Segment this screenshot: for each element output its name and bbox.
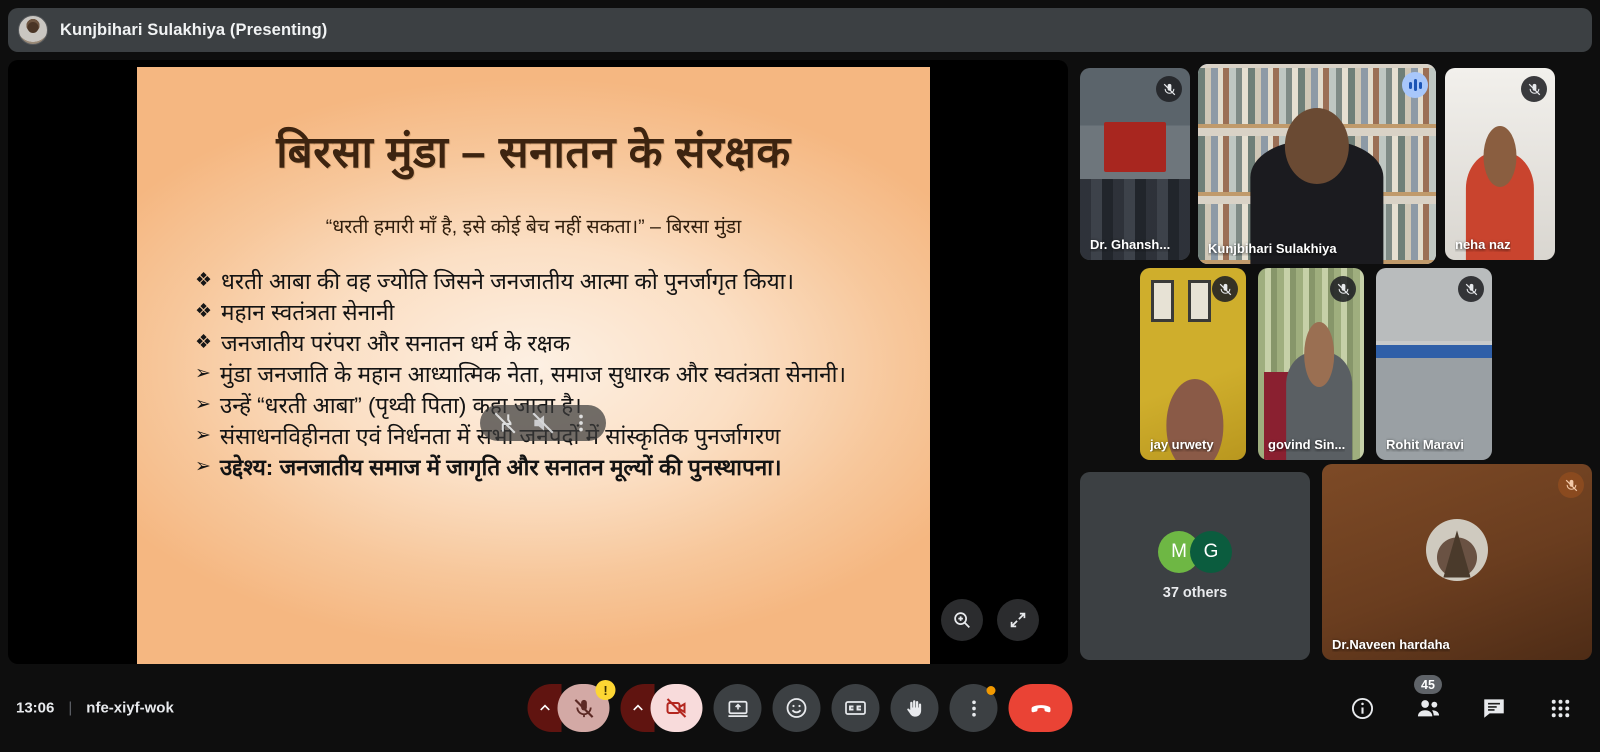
microphone-button[interactable]: !	[558, 684, 610, 732]
others-avatars: M G	[1158, 531, 1232, 573]
speaking-indicator-icon	[1402, 72, 1428, 98]
captions-button[interactable]	[832, 684, 880, 732]
mic-options-chevron[interactable]	[528, 684, 562, 732]
fullscreen-button[interactable]	[997, 599, 1039, 641]
avatar-initial: G	[1190, 531, 1232, 573]
participant-name: Kunjbihari Sulakhiya	[1208, 241, 1337, 256]
meet-window: Kunjbihari Sulakhiya (Presenting) बिरसा …	[0, 0, 1600, 752]
participant-tile[interactable]: Dr. Ghansh...	[1080, 68, 1190, 260]
presenting-banner: Kunjbihari Sulakhiya (Presenting)	[8, 8, 1592, 52]
bullet-text: धरती आबा की वह ज्योति जिसने जनजातीय आत्म…	[221, 267, 880, 297]
mic-off-icon	[1558, 472, 1584, 498]
raise-hand-button[interactable]	[891, 684, 939, 732]
slide-bullet: ❖ धरती आबा की वह ज्योति जिसने जनजातीय आत…	[195, 267, 880, 297]
bullet-marker-icon: ❖	[195, 298, 212, 327]
participant-name: neha naz	[1455, 237, 1511, 252]
meeting-details-button[interactable]	[1340, 686, 1384, 730]
bullet-text: मुंडा जनजाति के महान आध्यात्मिक नेता, सम…	[220, 360, 880, 390]
activities-button[interactable]	[1538, 686, 1582, 730]
meeting-info: 13:06 | nfe-xiyf-wok	[16, 700, 174, 717]
others-tile[interactable]: M G 37 others	[1080, 472, 1310, 660]
presentation-stage[interactable]: बिरसा मुंडा – सनातन के संरक्षक “धरती हमा…	[8, 60, 1068, 664]
participant-tile-active-speaker[interactable]: Kunjbihari Sulakhiya	[1198, 64, 1436, 264]
mic-warning-badge: !	[596, 680, 616, 700]
participant-tile[interactable]: Rohit Maravi	[1376, 268, 1492, 460]
people-count-badge: 45	[1414, 675, 1442, 694]
mic-off-icon	[1458, 276, 1484, 302]
participant-name: jay urwety	[1150, 437, 1214, 452]
avatar	[1426, 519, 1488, 581]
mic-off-icon	[1212, 276, 1238, 302]
slide-title: बिरसा मुंडा – सनातन के संरक्षक	[173, 128, 894, 179]
bottom-toolbar: 13:06 | nfe-xiyf-wok !	[0, 664, 1600, 752]
mic-off-icon	[1330, 276, 1356, 302]
more-vert-icon[interactable]	[568, 410, 594, 436]
bullet-marker-icon: ❖	[195, 329, 212, 358]
more-options-button[interactable]	[950, 684, 998, 732]
more-options-dot	[987, 686, 996, 695]
bullet-marker-icon: ➢	[195, 391, 211, 420]
meeting-code: nfe-xiyf-wok	[86, 700, 174, 717]
participant-name: Dr.Naveen hardaha	[1332, 637, 1450, 652]
slide-bullet: ❖ महान स्वतंत्रता सेनानी	[195, 298, 880, 328]
call-controls: !	[528, 684, 1073, 732]
slide-quote: “धरती हमारी माँ है, इसे कोई बेच नहीं सकत…	[173, 212, 894, 239]
mic-off-icon	[1521, 76, 1547, 102]
slide-bullet: ➢ मुंडा जनजाति के महान आध्यात्मिक नेता, …	[195, 360, 880, 390]
volume-off-icon[interactable]	[530, 410, 556, 436]
microphone-group: !	[528, 684, 610, 732]
meeting-time: 13:06	[16, 700, 54, 717]
slide-bullet: ❖ जनजातीय परंपरा और सनातन धर्म के रक्षक	[195, 329, 880, 359]
slide-bullet-list: ❖ धरती आबा की वह ज्योति जिसने जनजातीय आत…	[173, 267, 894, 484]
presented-slide: बिरसा मुंडा – सनातन के संरक्षक “धरती हमा…	[137, 67, 930, 664]
bullet-marker-icon: ➢	[195, 422, 211, 451]
presenter-avatar	[18, 15, 48, 45]
zoom-in-button[interactable]	[941, 599, 983, 641]
present-now-button[interactable]	[714, 684, 762, 732]
participant-name: Rohit Maravi	[1386, 437, 1464, 452]
participant-tile[interactable]: Dr.Naveen hardaha	[1322, 464, 1592, 660]
bullet-text: जनजातीय परंपरा और सनातन धर्म के रक्षक	[221, 329, 880, 359]
participant-tile[interactable]: neha naz	[1445, 68, 1555, 260]
bullet-marker-icon: ➢	[195, 360, 211, 389]
participant-name: Dr. Ghansh...	[1090, 237, 1170, 252]
right-toolbar: 45	[1340, 686, 1582, 730]
others-count-label: 37 others	[1163, 585, 1227, 601]
pin-off-icon[interactable]	[492, 410, 518, 436]
chat-button[interactable]	[1472, 686, 1516, 730]
presenting-label: Kunjbihari Sulakhiya (Presenting)	[60, 21, 327, 40]
mic-off-icon	[1156, 76, 1182, 102]
bullet-text: महान स्वतंत्रता सेनानी	[221, 298, 880, 328]
participant-rail: Dr. Ghansh... Kunjbihari Sulakhiya neha	[1076, 60, 1592, 664]
people-button[interactable]: 45	[1406, 686, 1450, 730]
participant-tile[interactable]: govind Sin...	[1258, 268, 1364, 460]
bullet-marker-icon: ❖	[195, 267, 212, 296]
camera-options-chevron[interactable]	[621, 684, 655, 732]
feed-hover-controls[interactable]	[480, 405, 606, 441]
bullet-marker-icon: ➢	[195, 453, 211, 482]
camera-group	[621, 684, 703, 732]
slide-bullet: ➢ उद्देश्य: जनजातीय समाज में जागृति और स…	[195, 453, 880, 483]
bullet-text: उद्देश्य: जनजातीय समाज में जागृति और सना…	[220, 453, 880, 483]
separator: |	[68, 700, 72, 717]
end-call-button[interactable]	[1009, 684, 1073, 732]
emoji-reaction-button[interactable]	[773, 684, 821, 732]
participant-name: govind Sin...	[1268, 437, 1345, 452]
participant-tile[interactable]: jay urwety	[1140, 268, 1246, 460]
camera-button[interactable]	[651, 684, 703, 732]
